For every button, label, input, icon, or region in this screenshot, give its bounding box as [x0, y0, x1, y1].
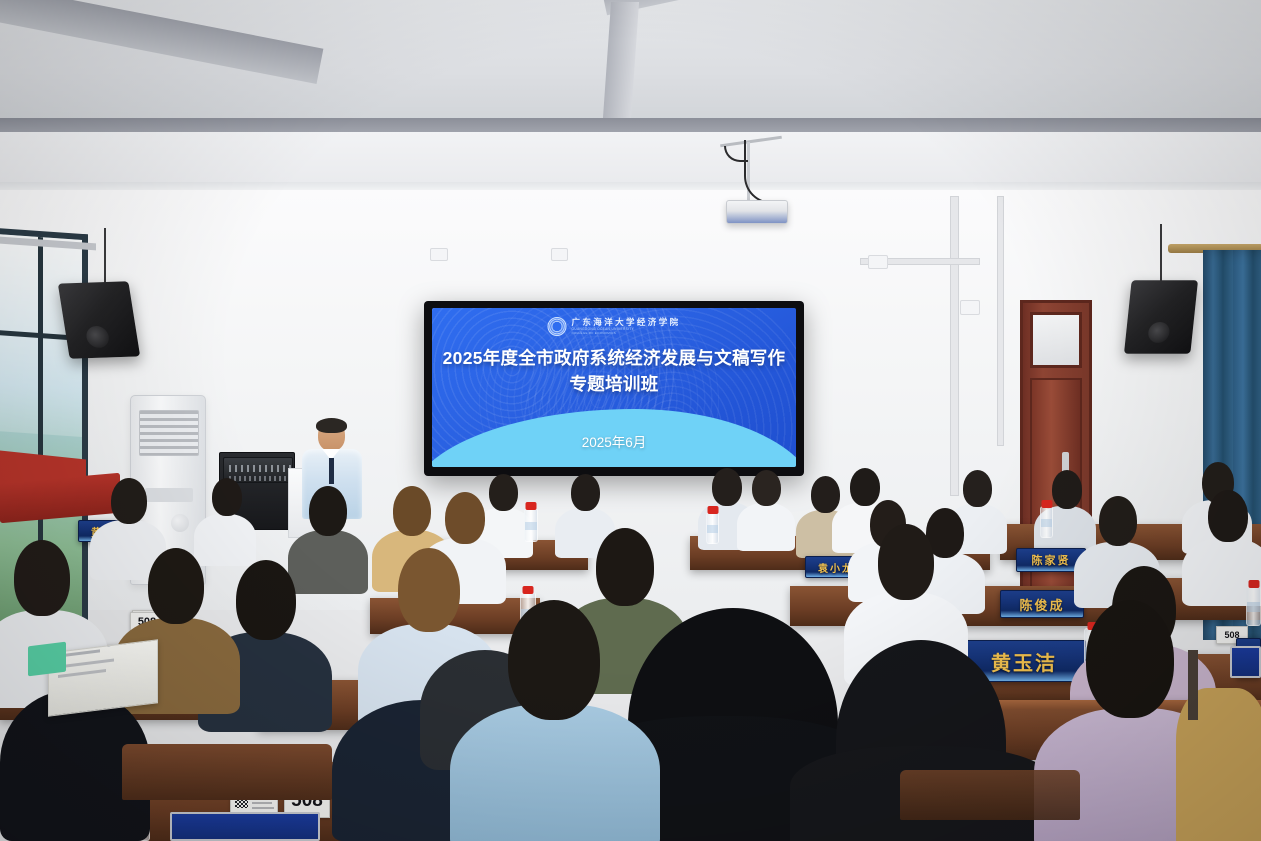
bottle-label — [1041, 519, 1052, 527]
person-head — [508, 600, 600, 720]
chair-back — [900, 770, 1080, 820]
person-head — [1099, 496, 1137, 546]
bottle-label — [707, 525, 718, 533]
slide-content: 广东海洋大学经济学院 GUANGDONG OCEAN UNIVERSITY CO… — [432, 308, 796, 467]
presentation-screen: 广东海洋大学经济学院 GUANGDONG OCEAN UNIVERSITY CO… — [424, 301, 804, 476]
person-head — [212, 478, 242, 516]
speaker-wire — [1160, 224, 1162, 282]
ceiling-projector — [726, 200, 788, 224]
person-head — [712, 468, 742, 506]
bottle-label — [525, 522, 537, 530]
ac-grille-icon — [139, 410, 199, 456]
wall-outlet — [868, 255, 888, 269]
logo-text-block: 广东海洋大学经济学院 GUANGDONG OCEAN UNIVERSITY CO… — [571, 318, 680, 336]
person-head — [398, 548, 460, 632]
ceiling-beam-main — [0, 118, 1261, 132]
placard-name: 陈俊成 — [1019, 595, 1064, 614]
person-head — [878, 524, 934, 600]
university-emblem-icon — [547, 317, 566, 336]
audience-person — [200, 478, 250, 558]
person-head — [1208, 490, 1248, 542]
qr-card-line — [252, 807, 274, 809]
desk-name-screen — [1230, 646, 1261, 678]
person-head — [14, 540, 70, 616]
presenter-hair — [316, 418, 347, 433]
person-head — [445, 492, 485, 544]
person-head — [393, 486, 431, 536]
water-bottle — [1246, 586, 1261, 626]
wall-outlet — [551, 248, 568, 261]
wall-conduit-vertical — [997, 196, 1004, 446]
logo-chinese-name: 广东海洋大学经济学院 — [571, 318, 680, 327]
foreground-person — [478, 600, 628, 841]
person-head — [596, 528, 654, 606]
person-shoulders — [737, 503, 795, 551]
slide-title: 2025年度全市政府系统经济发展与文稿写作 专题培训班 — [432, 346, 796, 398]
person-shoulders — [450, 704, 660, 841]
audience-person — [742, 470, 788, 544]
person-head — [963, 470, 992, 507]
presenter-tie — [329, 458, 334, 484]
bottle-cap — [526, 502, 537, 510]
wall-conduit-vertical — [950, 196, 959, 496]
speaker-cone-icon — [85, 326, 111, 349]
slide-title-line1: 2025年度全市政府系统经济发展与文稿写作 — [440, 346, 788, 372]
placard-name: 黄玉洁 — [991, 647, 1057, 676]
qr-card-line — [252, 802, 272, 804]
bottle-cap — [1248, 580, 1259, 588]
bag-strap — [1188, 650, 1198, 720]
mixer-knobs-icon — [229, 465, 295, 472]
chair-back — [122, 744, 332, 800]
person-head — [111, 478, 147, 524]
door-window — [1030, 312, 1082, 368]
right-hanging-speaker — [1124, 280, 1198, 354]
bottle-label — [1247, 602, 1260, 612]
speaker-wire — [104, 228, 106, 284]
bottle-cap — [707, 506, 718, 514]
water-bottle — [524, 508, 538, 542]
water-bottle — [1040, 506, 1053, 538]
slide-title-line2: 专题培训班 — [440, 372, 788, 398]
logo-english-subname: COLLEGE OF ECONOMICS — [571, 332, 680, 335]
audience-person — [1192, 490, 1261, 594]
left-hanging-speaker — [58, 281, 140, 359]
university-logo: 广东海洋大学经济学院 GUANGDONG OCEAN UNIVERSITY CO… — [547, 317, 680, 336]
wall-outlet — [960, 300, 980, 315]
water-bottle — [706, 512, 719, 544]
person-head — [571, 474, 600, 511]
speaker-cone-icon — [1147, 322, 1170, 343]
sticky-note — [28, 642, 66, 677]
person-head — [811, 476, 840, 513]
placard-name: 陈家贤 — [1032, 552, 1071, 568]
bottle-cap — [523, 586, 534, 594]
classroom-photo: 广东海洋大学经济学院 GUANGDONG OCEAN UNIVERSITY CO… — [0, 0, 1261, 841]
wall-outlet — [430, 248, 448, 261]
person-head — [1086, 600, 1174, 718]
person-head — [309, 486, 347, 536]
ac-vent-dial — [171, 514, 189, 532]
person-head — [1052, 470, 1082, 509]
person-head — [148, 548, 204, 624]
desk-name-screen — [170, 812, 320, 841]
person-head — [236, 560, 296, 640]
person-head — [752, 470, 781, 506]
bottle-cap — [1041, 500, 1052, 508]
slide-date: 2025年6月 — [432, 431, 796, 451]
